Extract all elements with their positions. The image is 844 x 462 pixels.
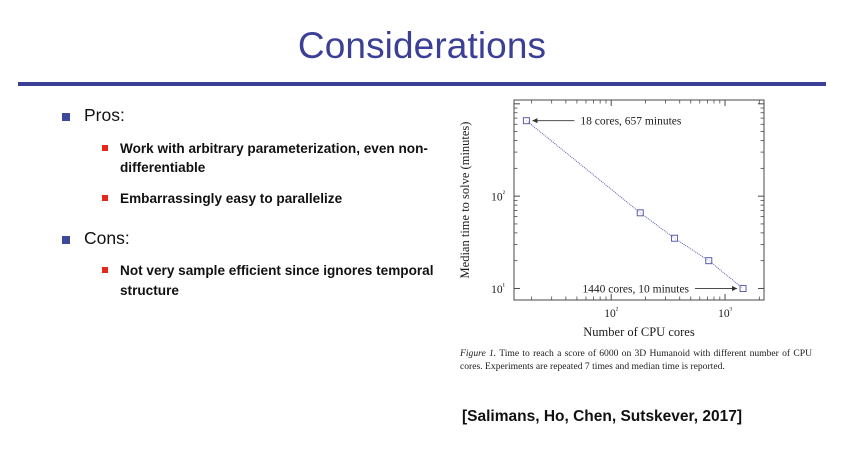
figure-panel: 10¹10²10²10³Number of CPU coresMedian ti… [455,96,827,342]
square-bullet-icon [102,145,108,151]
bullet-label: Pros: [84,105,125,125]
bullet-label: Work with arbitrary parameterization, ev… [120,141,428,175]
svg-text:10²: 10² [491,189,506,204]
square-bullet-icon [102,195,108,201]
page-title: Considerations [0,26,844,67]
chart-container: 10¹10²10²10³Number of CPU coresMedian ti… [455,96,827,342]
svg-text:10³: 10³ [718,306,733,321]
bullet-pros-heading: Pros: [50,104,440,127]
figure-caption-text: Time to reach a score of 6000 on 3D Huma… [460,348,812,372]
bullet-label: Not very sample efficient since ignores … [120,263,434,297]
citation-text: [Salimans, Ho, Chen, Sutskever, 2017] [462,408,742,426]
figure-caption-label: Figure 1. [460,348,496,359]
bullet-pros-item-1: Work with arbitrary parameterization, ev… [50,139,440,178]
svg-text:Number of CPU cores: Number of CPU cores [583,325,695,339]
svg-text:1440 cores, 10 minutes: 1440 cores, 10 minutes [582,283,689,295]
bullet-pros-item-2: Embarrassingly easy to parallelize [50,189,440,208]
slide-root: Considerations Pros: Work with arbitrary… [0,0,844,462]
svg-text:Median time to solve (minutes): Median time to solve (minutes) [458,122,472,279]
figure-caption: Figure 1. Time to reach a score of 6000 … [460,348,812,374]
bullet-cons-heading: Cons: [50,227,440,250]
svg-text:10¹: 10¹ [491,281,506,296]
svg-text:18 cores, 657 minutes: 18 cores, 657 minutes [580,116,681,128]
bullet-cons-item-1: Not very sample efficient since ignores … [50,261,440,300]
svg-text:10²: 10² [604,306,619,321]
cpu-cores-vs-time-chart: 10¹10²10²10³Number of CPU coresMedian ti… [455,96,827,342]
bullet-label: Cons: [84,228,130,248]
square-bullet-icon [102,267,108,273]
bullet-label: Embarrassingly easy to parallelize [120,191,342,206]
bullet-list: Pros: Work with arbitrary parameterizati… [50,104,440,312]
title-divider [18,82,826,86]
square-bullet-icon [62,113,70,121]
square-bullet-icon [62,236,70,244]
